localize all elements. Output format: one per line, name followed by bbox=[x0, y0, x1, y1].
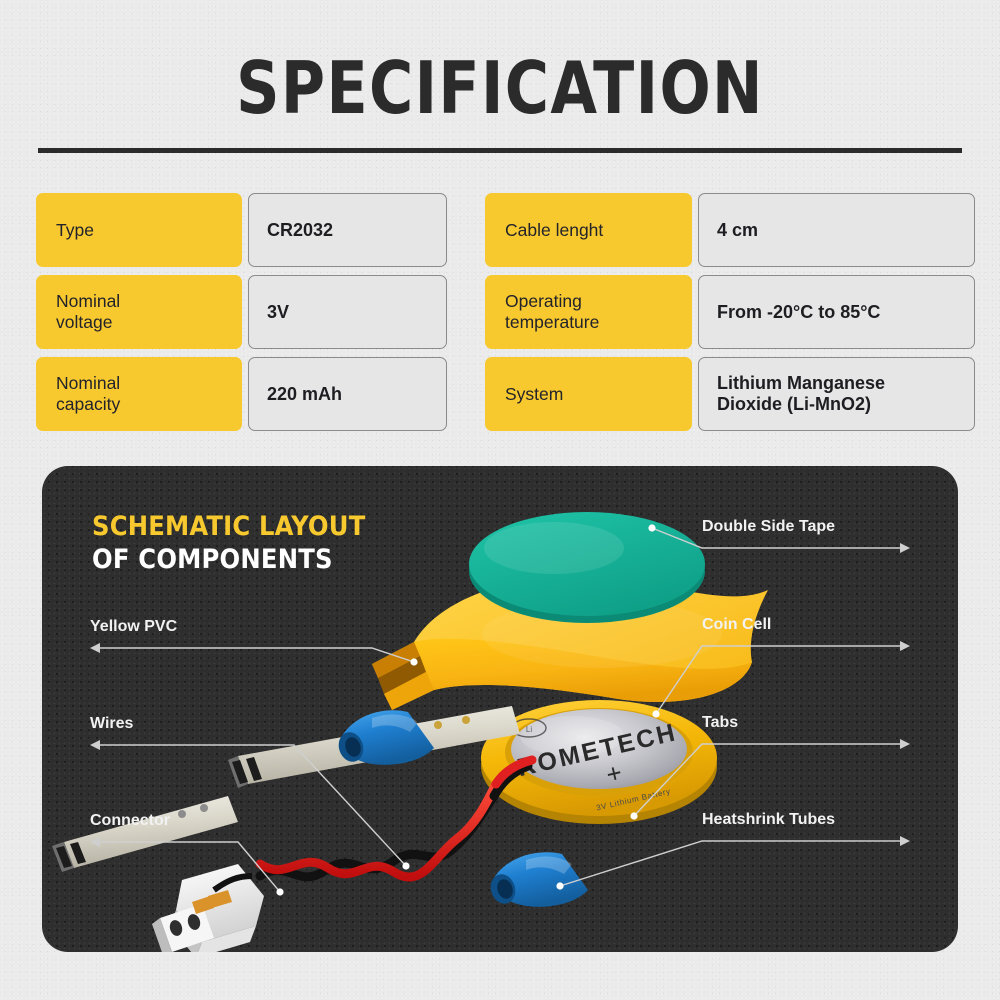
spec-column-right: Cable lenght 4 cm Operating temperature … bbox=[485, 193, 975, 431]
spec-row: Nominal voltage 3V bbox=[36, 275, 447, 349]
callout-label-wires: Wires bbox=[90, 715, 133, 733]
leader-yellow-pvc bbox=[90, 643, 418, 666]
spec-value-operating-temperature: From -20°C to 85°C bbox=[698, 275, 975, 349]
spec-value-system: Lithium Manganese Dioxide (Li-MnO2) bbox=[698, 357, 975, 431]
leader-lines bbox=[42, 466, 958, 952]
spec-value-nominal-voltage: 3V bbox=[248, 275, 447, 349]
spec-row: Cable lenght 4 cm bbox=[485, 193, 975, 267]
spec-column-left: Type CR2032 Nominal voltage 3V Nominal c… bbox=[36, 193, 447, 431]
spec-label-cable-length: Cable lenght bbox=[485, 193, 692, 267]
spec-row: System Lithium Manganese Dioxide (Li-MnO… bbox=[485, 357, 975, 431]
leader-coin-cell bbox=[652, 641, 910, 718]
callout-label-heatshrink-tubes: Heatshrink Tubes bbox=[702, 811, 835, 829]
callout-label-tabs: Tabs bbox=[702, 714, 738, 732]
spec-row: Type CR2032 bbox=[36, 193, 447, 267]
spec-row: Nominal capacity 220 mAh bbox=[36, 357, 447, 431]
callout-label-connector: Connector bbox=[90, 812, 170, 830]
spec-label-type: Type bbox=[36, 193, 242, 267]
specification-table: Type CR2032 Nominal voltage 3V Nominal c… bbox=[36, 193, 964, 431]
leader-connector bbox=[90, 837, 284, 896]
spec-label-system: System bbox=[485, 357, 692, 431]
callout-label-double-side-tape: Double Side Tape bbox=[702, 518, 835, 536]
spec-label-nominal-voltage: Nominal voltage bbox=[36, 275, 242, 349]
leader-heatshrink-tubes bbox=[556, 836, 910, 890]
spec-label-operating-temperature: Operating temperature bbox=[485, 275, 692, 349]
page-title: SPECIFICATION bbox=[35, 48, 965, 128]
callout-label-coin-cell: Coin Cell bbox=[702, 616, 771, 634]
leader-tabs bbox=[630, 739, 910, 820]
spec-row: Operating temperature From -20°C to 85°C bbox=[485, 275, 975, 349]
spec-label-nominal-capacity: Nominal capacity bbox=[36, 357, 242, 431]
schematic-panel: SCHEMATIC LAYOUT OF COMPONENTS bbox=[42, 466, 958, 952]
spec-value-nominal-capacity: 220 mAh bbox=[248, 357, 447, 431]
title-divider bbox=[38, 148, 962, 153]
spec-value-type: CR2032 bbox=[248, 193, 447, 267]
leader-wires bbox=[90, 740, 410, 870]
callout-label-yellow-pvc: Yellow PVC bbox=[90, 618, 177, 636]
spec-value-cable-length: 4 cm bbox=[698, 193, 975, 267]
specification-page: SPECIFICATION Type CR2032 Nominal voltag… bbox=[0, 0, 1000, 1000]
